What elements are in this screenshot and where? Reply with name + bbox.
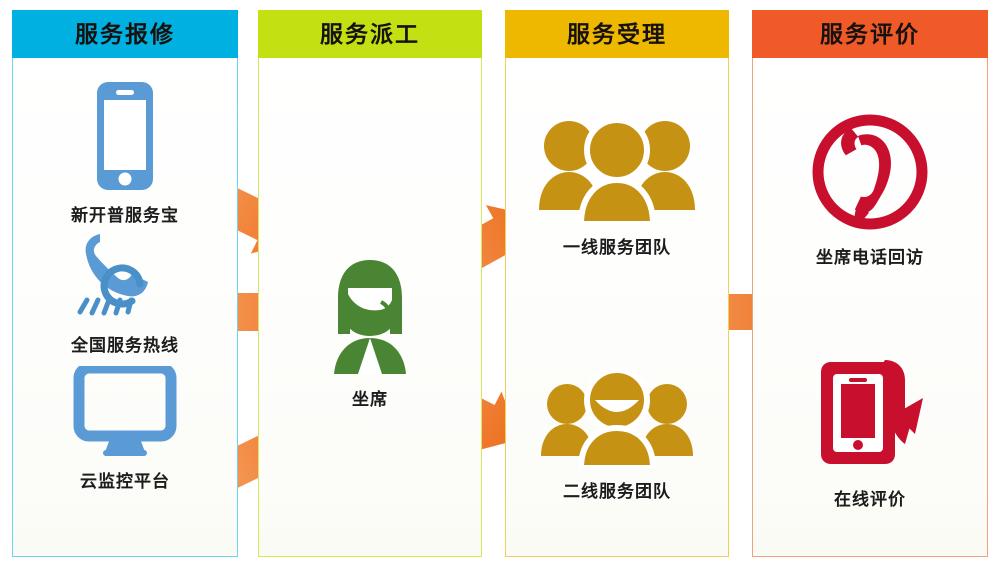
stage-column-3[interactable]: 服务受理 一线服务团队 (505, 10, 729, 557)
headset-operator-icon (259, 258, 481, 381)
people-group-icon (506, 114, 728, 229)
item-online-review[interactable]: 在线评价 (753, 348, 987, 510)
stage-header-4[interactable]: 服务评价 (752, 10, 988, 58)
item-cloud-monitor[interactable]: 云监控平台 (13, 366, 237, 492)
item-hotline-label: 全国服务热线 (13, 331, 237, 356)
people-group-alt-icon (506, 368, 728, 473)
stage-header-3[interactable]: 服务受理 (505, 10, 729, 58)
desktop-monitor-icon (13, 366, 237, 463)
item-agent-label: 坐席 (259, 385, 481, 410)
stage-header-1[interactable]: 服务报修 (12, 10, 238, 58)
stage-body-2: 坐席 (258, 58, 482, 557)
service-flow-diagram: 服务报修 新开普服务宝 (0, 0, 1000, 567)
stage-column-2[interactable]: 服务派工 坐席 (258, 10, 482, 557)
item-tier2-team[interactable]: 二线服务团队 (506, 368, 728, 502)
item-tier1-team[interactable]: 一线服务团队 (506, 114, 728, 258)
item-tier2-team-label: 二线服务团队 (506, 477, 728, 502)
stage-column-1[interactable]: 服务报修 新开普服务宝 (12, 10, 238, 557)
mobile-review-icon (753, 348, 987, 481)
phone-circle-icon (753, 110, 987, 239)
item-app[interactable]: 新开普服务宝 (13, 80, 237, 226)
item-agent[interactable]: 坐席 (259, 258, 481, 410)
smartphone-icon (13, 80, 237, 197)
stage-column-4[interactable]: 服务评价 坐席电话回访 (752, 10, 988, 557)
stage-body-3: 一线服务团队 二线服务团队 (505, 58, 729, 557)
item-callback[interactable]: 坐席电话回访 (753, 110, 987, 268)
item-tier1-team-label: 一线服务团队 (506, 233, 728, 258)
stage-header-2[interactable]: 服务派工 (258, 10, 482, 58)
item-app-label: 新开普服务宝 (13, 201, 237, 226)
item-cloud-monitor-label: 云监控平台 (13, 467, 237, 492)
item-online-review-label: 在线评价 (753, 485, 987, 510)
item-callback-label: 坐席电话回访 (753, 243, 987, 268)
stage-body-4: 坐席电话回访 在线评价 (752, 58, 988, 557)
telephone-handset-icon (13, 230, 237, 327)
item-hotline[interactable]: 全国服务热线 (13, 230, 237, 356)
stage-body-1: 新开普服务宝 (12, 58, 238, 557)
